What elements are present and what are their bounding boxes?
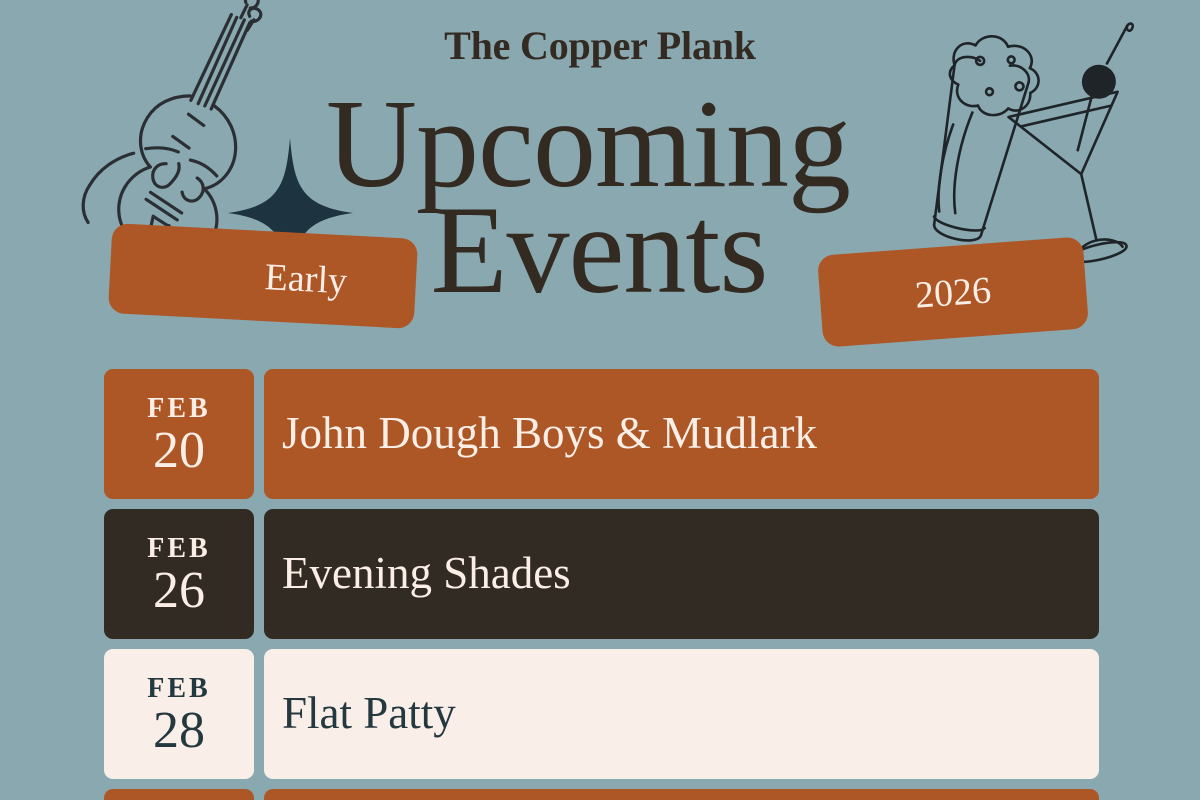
event-title-card: Evening Shades [264,509,1099,639]
event-day: 26 [153,564,205,617]
event-title: Flat Patty [282,690,456,737]
event-month: FEB [147,675,210,703]
year-badge: 2026 [817,236,1089,347]
event-date-card: FEB 26 [104,509,254,639]
event-month: FEB [147,535,210,563]
event-month: FEB [147,395,210,423]
event-day: 28 [153,704,205,757]
event-row: FEB 20 John Dough Boys & Mudlark [104,369,1099,499]
event-row [104,789,1099,800]
venue-name: The Copper Plank [0,26,1200,66]
event-title: John Dough Boys & Mudlark [282,410,817,457]
event-row: FEB 28 Flat Patty [104,649,1099,779]
event-title-card: Flat Patty [264,649,1099,779]
event-title-card: John Dough Boys & Mudlark [264,369,1099,499]
event-day: 20 [153,424,205,477]
event-list: FEB 20 John Dough Boys & Mudlark FEB 26 … [104,369,1099,800]
year-badge-label: 2026 [914,271,993,314]
event-row: FEB 26 Evening Shades [104,509,1099,639]
event-date-card: FEB 28 [104,649,254,779]
event-poster: The Copper Plank Upcoming Events Early 2… [0,0,1200,800]
season-badge: Early [108,223,418,329]
event-date-card [104,789,254,800]
season-badge-label: Early [264,258,348,300]
event-title-card [264,789,1099,800]
event-title: Evening Shades [282,550,571,597]
event-date-card: FEB 20 [104,369,254,499]
